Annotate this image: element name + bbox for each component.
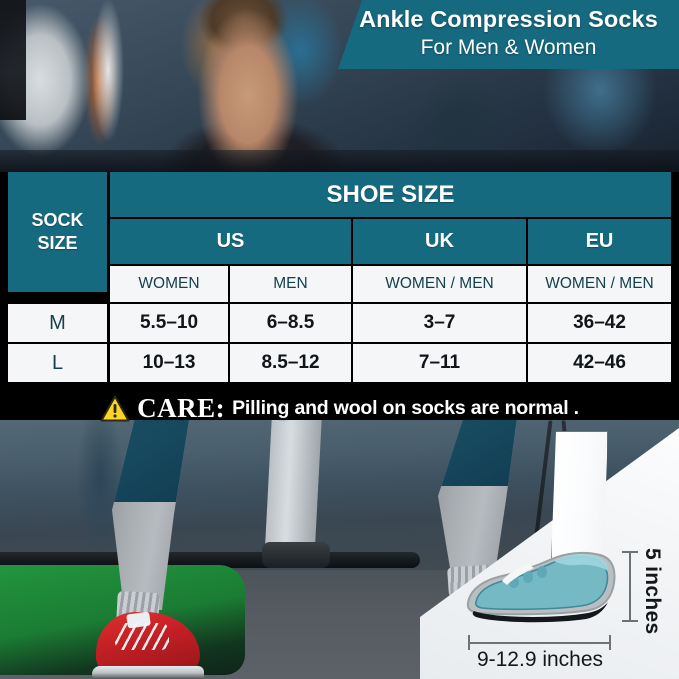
header-region-uk: UK — [353, 219, 526, 264]
row-l-uk: 7–11 — [353, 344, 526, 382]
length-dimension-label: 9-12.9 inches — [440, 648, 640, 672]
size-chart-table: SOCK SIZE SHOE SIZE US UK EU WOMEN MEN W… — [8, 172, 671, 384]
care-label: CARE: — [137, 393, 225, 424]
row-l-us-men: 8.5–12 — [230, 344, 351, 382]
photo-dark-edge — [0, 0, 26, 120]
row-m-size: M — [8, 304, 107, 342]
product-subtitle: For Men & Women — [338, 34, 679, 61]
left-shoe-laces — [115, 623, 169, 650]
row-l-size: L — [8, 344, 107, 382]
header-us-women: WOMEN — [110, 266, 228, 302]
shoe-foot-illustration — [462, 545, 620, 623]
row-m-uk: 3–7 — [353, 304, 526, 342]
photo-bottom-shadow — [0, 150, 679, 172]
care-notice: CARE: Pilling and wool on socks are norm… — [0, 388, 679, 428]
sock-size-line-1: SOCK — [31, 209, 83, 232]
rack-post — [264, 420, 321, 560]
header-shoe-size: SHOE SIZE — [110, 172, 671, 217]
height-dimension-line — [629, 551, 631, 621]
title-banner: Ankle Compression Socks For Men & Women — [338, 0, 679, 69]
row-m-us-men: 6–8.5 — [230, 304, 351, 342]
length-dimension-line — [468, 642, 610, 644]
height-dimension-cap-bottom — [622, 620, 638, 622]
height-dimension-cap-top — [622, 551, 638, 553]
row-l-eu: 42–46 — [528, 344, 671, 382]
header-region-us: US — [110, 219, 351, 264]
infographic-page: Ankle Compression Socks For Men & Women — [0, 0, 679, 679]
product-title: Ankle Compression Socks — [338, 5, 679, 34]
row-l-us-women: 10–13 — [110, 344, 228, 382]
care-text: Pilling and wool on socks are normal . — [232, 397, 579, 420]
header-uk-women-men: WOMEN / MEN — [353, 266, 526, 302]
warning-triangle-icon — [100, 395, 130, 422]
header-us-men: MEN — [230, 266, 351, 302]
header-sock-size: SOCK SIZE — [8, 172, 107, 292]
header-eu-women-men: WOMEN / MEN — [528, 266, 671, 302]
row-m-eu: 36–42 — [528, 304, 671, 342]
height-dimension-label: 5 inches — [640, 548, 664, 634]
sock-size-line-2: SIZE — [37, 232, 77, 255]
header-region-eu: EU — [528, 219, 671, 264]
rack-foot — [262, 542, 330, 568]
row-m-us-women: 5.5–10 — [110, 304, 228, 342]
left-calf-teal — [108, 420, 190, 502]
left-shoe-sole — [92, 666, 204, 679]
right-calf-teal — [432, 420, 518, 486]
